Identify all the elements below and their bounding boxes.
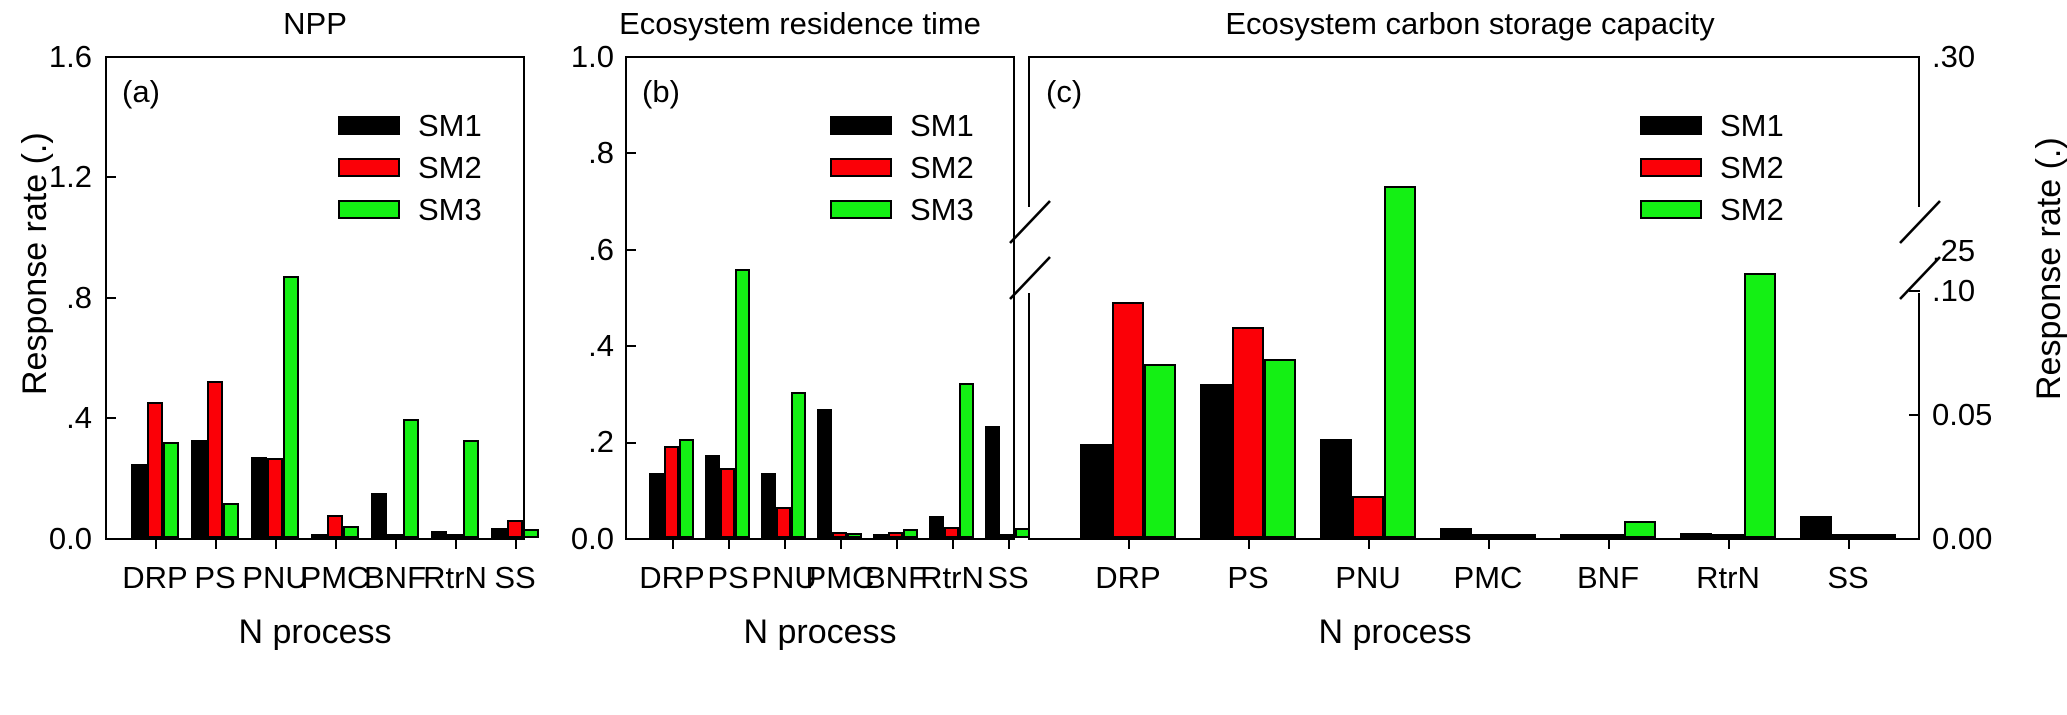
panel-a-xtick-mark bbox=[155, 538, 157, 549]
legend-swatch-sm2-icon bbox=[1640, 158, 1702, 177]
panel-b-xtick-mark bbox=[952, 538, 954, 549]
bar-npp-RtrN-SM1 bbox=[431, 531, 447, 539]
bar-csc-PNU-SM1 bbox=[1320, 439, 1352, 538]
panel-a-xtick-mark bbox=[335, 538, 337, 549]
panel-a-xtick-mark bbox=[275, 538, 277, 549]
bar-npp-PS-SM2 bbox=[207, 381, 223, 538]
bar-npp-DRP-SM1 bbox=[131, 464, 147, 538]
bar-csc-PS-SM2 bbox=[1232, 327, 1264, 538]
panel-a-x-axis-title: N process bbox=[150, 615, 480, 649]
legend-item-sm1: SM1 bbox=[830, 104, 974, 146]
legend-item-sm2: SM2 bbox=[338, 146, 482, 188]
bar-ert-PNU-SM3 bbox=[791, 392, 806, 538]
bar-ert-RtrN-SM2 bbox=[944, 527, 959, 538]
legend-label-sm1: SM1 bbox=[1720, 110, 1784, 141]
bar-npp-RtrN-SM3 bbox=[463, 440, 479, 538]
bar-npp-PNU-SM3 bbox=[283, 276, 299, 538]
legend-swatch-sm2-icon bbox=[338, 158, 400, 177]
legend-swatch-sm3-icon bbox=[1640, 200, 1702, 219]
bar-csc-DRP-SM1 bbox=[1080, 444, 1112, 538]
legend-label-sm3: SM3 bbox=[418, 194, 482, 225]
panel-a-title: NPP bbox=[100, 6, 530, 42]
bar-csc-RtrN-SM3 bbox=[1744, 273, 1776, 538]
panel-b-xtick-mark bbox=[784, 538, 786, 549]
panel-b-legend: SM1 SM2 SM3 bbox=[830, 104, 974, 230]
panel-b-xtick-mark bbox=[896, 538, 898, 549]
legend-item-sm1: SM1 bbox=[1640, 104, 1784, 146]
panel-b-x-axis bbox=[625, 538, 1015, 540]
legend-label-sm2: SM2 bbox=[1720, 152, 1784, 183]
panel-c-xtick-mark bbox=[1608, 538, 1610, 549]
bar-csc-SS-SM1 bbox=[1800, 516, 1832, 538]
legend-item-sm3: SM3 bbox=[830, 188, 974, 230]
bar-ert-PS-SM3 bbox=[735, 269, 750, 538]
panel-c-xtick-PNU: PNU bbox=[1315, 562, 1421, 593]
panel-c-x-axis bbox=[1028, 538, 1920, 540]
legend-label-sm3: SM3 bbox=[910, 194, 974, 225]
legend-swatch-sm1-icon bbox=[338, 116, 400, 135]
legend-swatch-sm3-icon bbox=[830, 200, 892, 219]
bar-npp-PMC-SM2 bbox=[327, 515, 343, 538]
bar-ert-PS-SM1 bbox=[705, 455, 720, 538]
bar-npp-DRP-SM3 bbox=[163, 442, 179, 538]
y-axis-title-right: Response rate (.) bbox=[2032, 137, 2066, 400]
legend-label-sm1: SM1 bbox=[910, 110, 974, 141]
panel-b-ytick-0.4: .4 bbox=[530, 330, 614, 361]
panel-c-xtick-RtrN: RtrN bbox=[1673, 562, 1783, 593]
bar-npp-PNU-SM1 bbox=[251, 457, 267, 538]
panel-c-xtick-mark bbox=[1488, 538, 1490, 549]
bar-ert-PMC-SM3 bbox=[847, 533, 862, 538]
panel-b-xtick-mark bbox=[672, 538, 674, 549]
panel-c-xtick-mark bbox=[1248, 538, 1250, 549]
panel-c-xtick-mark bbox=[1128, 538, 1130, 549]
panel-c-xtick-mark bbox=[1368, 538, 1370, 549]
panel-a-ytick-1.6: 1.6 bbox=[0, 41, 92, 72]
panel-a-ytick-0.4: .4 bbox=[0, 402, 92, 433]
legend-item-sm1: SM1 bbox=[338, 104, 482, 146]
panel-c-xtick-PMC: PMC bbox=[1435, 562, 1541, 593]
panel-a-xtick-mark bbox=[395, 538, 397, 549]
bar-ert-BNF-SM1 bbox=[873, 534, 888, 538]
panel-c-xtick-mark bbox=[1728, 538, 1730, 549]
bar-npp-DRP-SM2 bbox=[147, 402, 163, 538]
panel-b-ytick-0.0: 0.0 bbox=[530, 523, 614, 554]
panel-c-xtick-BNF: BNF bbox=[1557, 562, 1659, 593]
bar-npp-PNU-SM2 bbox=[267, 458, 283, 538]
bar-csc-DRP-SM2 bbox=[1112, 302, 1144, 538]
bar-csc-PS-SM1 bbox=[1200, 384, 1232, 538]
panel-ecosystem-carbon-storage-capacity: Ecosystem carbon storage capacity (c) .3… bbox=[1020, 0, 2067, 715]
panel-b-ytick-0.6: .6 bbox=[530, 234, 614, 265]
panel-a-ytick-0.8: .8 bbox=[0, 282, 92, 313]
bar-ert-DRP-SM2 bbox=[664, 446, 679, 539]
bar-csc-PS-SM3 bbox=[1264, 359, 1296, 538]
legend-item-sm2: SM2 bbox=[830, 146, 974, 188]
bar-csc-PMC-SM1 bbox=[1440, 528, 1472, 538]
bar-csc-DRP-SM3 bbox=[1144, 364, 1176, 538]
panel-b-x-axis-title: N process bbox=[655, 615, 985, 649]
panel-a-ytick-0.0: 0.0 bbox=[0, 523, 92, 554]
bar-npp-SS-SM2 bbox=[507, 520, 523, 538]
bar-ert-DRP-SM1 bbox=[649, 473, 664, 538]
bar-csc-RtrN-SM1 bbox=[1680, 533, 1712, 538]
bar-csc-BNF-SM3 bbox=[1624, 521, 1656, 538]
figure-root: NPP Response rate (.) (a) 1.6 1.2 .8 .4 … bbox=[0, 0, 2067, 715]
bar-ert-SS-SM1 bbox=[985, 426, 1000, 538]
panel-b-title: Ecosystem residence time bbox=[580, 6, 1020, 42]
panel-b-xtick-mark bbox=[840, 538, 842, 549]
panel-a-xtick-mark bbox=[455, 538, 457, 549]
panel-a-xtick-mark bbox=[515, 538, 517, 549]
legend-swatch-sm2-icon bbox=[830, 158, 892, 177]
panel-c-ytick-0.05: 0.05 bbox=[1932, 399, 2042, 430]
bar-ert-RtrN-SM3 bbox=[959, 383, 974, 538]
legend-item-sm2: SM2 bbox=[1640, 146, 1784, 188]
bar-ert-BNF-SM3 bbox=[903, 529, 918, 538]
bar-npp-SS-SM1 bbox=[491, 528, 507, 539]
panel-c-title: Ecosystem carbon storage capacity bbox=[1020, 6, 1920, 42]
bar-npp-BNF-SM1 bbox=[371, 493, 387, 538]
panel-c-xtick-SS: SS bbox=[1807, 562, 1889, 593]
legend-swatch-sm3-icon bbox=[338, 200, 400, 219]
panel-npp: NPP Response rate (.) (a) 1.6 1.2 .8 .4 … bbox=[0, 0, 530, 715]
panel-c-ytick-0.30: .30 bbox=[1932, 41, 2042, 72]
panel-c-ytick-0.00: 0.00 bbox=[1932, 523, 2042, 554]
panel-b-ytick-0.8: .8 bbox=[530, 137, 614, 168]
legend-label-sm3-green: SM2 bbox=[1720, 194, 1784, 225]
panel-a-ytick-1.2: 1.2 bbox=[0, 161, 92, 192]
bar-ert-RtrN-SM1 bbox=[929, 516, 944, 538]
legend-item-sm3: SM2 bbox=[1640, 188, 1784, 230]
bar-npp-BNF-SM3 bbox=[403, 419, 419, 538]
bar-csc-BNF-SM1 bbox=[1560, 534, 1592, 538]
bar-npp-PMC-SM1 bbox=[311, 534, 327, 538]
legend-label-sm2: SM2 bbox=[910, 152, 974, 183]
bar-npp-PS-SM3 bbox=[223, 503, 239, 538]
panel-c-ytick-0.25: .25 bbox=[1932, 235, 2042, 266]
bar-ert-PS-SM2 bbox=[720, 468, 735, 538]
panel-ecosystem-residence-time: Ecosystem residence time (b) 1.0 .8 .6 .… bbox=[530, 0, 1020, 715]
panel-a-xtick-mark bbox=[215, 538, 217, 549]
panel-c-xtick-DRP: DRP bbox=[1078, 562, 1178, 593]
legend-label-sm1: SM1 bbox=[418, 110, 482, 141]
panel-c-xtick-mark bbox=[1848, 538, 1850, 549]
bar-csc-PMC-SM3 bbox=[1504, 534, 1536, 538]
bar-ert-DRP-SM3 bbox=[679, 439, 694, 538]
panel-b-ytick-0.2: .2 bbox=[530, 426, 614, 457]
bar-csc-PNU-SM2 bbox=[1352, 496, 1384, 538]
bar-ert-PNU-SM2 bbox=[776, 507, 791, 538]
panel-a-legend: SM1 SM2 SM3 bbox=[338, 104, 482, 230]
panel-c-bars bbox=[1028, 56, 1920, 538]
bar-ert-PNU-SM1 bbox=[761, 473, 776, 538]
panel-a-x-axis bbox=[105, 538, 525, 540]
panel-c-xtick-PS: PS bbox=[1203, 562, 1293, 593]
panel-c-legend: SM1 SM2 SM2 bbox=[1640, 104, 1784, 230]
panel-b-xtick-mark bbox=[1008, 538, 1010, 549]
legend-swatch-sm1-icon bbox=[1640, 116, 1702, 135]
panel-c-x-axis-title: N process bbox=[1230, 615, 1560, 649]
legend-label-sm2: SM2 bbox=[418, 152, 482, 183]
bar-npp-PMC-SM3 bbox=[343, 526, 359, 538]
panel-c-ytick-0.10: .10 bbox=[1932, 275, 2042, 306]
bar-ert-PMC-SM1 bbox=[817, 409, 832, 538]
legend-swatch-sm1-icon bbox=[830, 116, 892, 135]
bar-csc-PNU-SM3 bbox=[1384, 186, 1416, 538]
panel-b-xtick-mark bbox=[728, 538, 730, 549]
legend-item-sm3: SM3 bbox=[338, 188, 482, 230]
panel-b-ytick-1.0: 1.0 bbox=[530, 41, 614, 72]
bar-csc-SS-SM3 bbox=[1864, 534, 1896, 538]
bar-npp-PS-SM1 bbox=[191, 440, 207, 538]
